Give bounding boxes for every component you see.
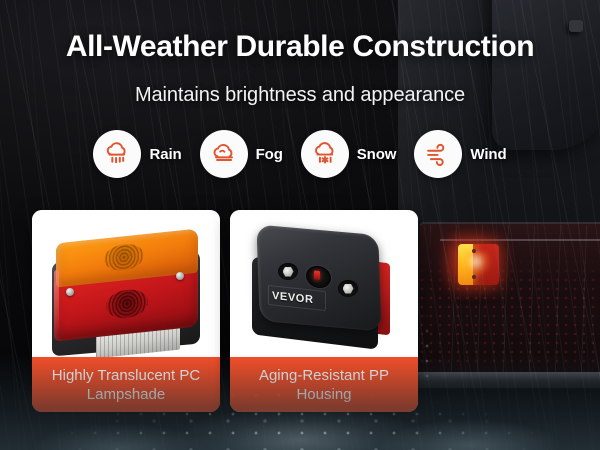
weather-badge-label: Wind — [470, 146, 506, 163]
tail-light-screw — [472, 275, 476, 279]
cloud-rain-icon — [93, 130, 141, 178]
pp-mount-screw — [278, 263, 298, 280]
weather-badge-wind: Wind — [414, 130, 506, 178]
product-image-lampshade — [32, 210, 220, 365]
weather-badge-label: Fog — [256, 146, 283, 163]
lamp-amber-reflector — [104, 242, 144, 272]
lamp-edge-highlight — [54, 270, 59, 331]
tail-light-illustration — [32, 210, 220, 365]
lamp-red-reflector — [106, 288, 148, 320]
wind-icon — [414, 130, 462, 178]
cloud-snow-icon — [301, 130, 349, 178]
tail-light-screw — [472, 249, 476, 253]
tail-light-illuminated — [458, 244, 499, 285]
lamp-screw — [176, 272, 184, 280]
pp-mount-screw — [338, 280, 358, 297]
pp-housing-illustration: VEVOR — [230, 210, 418, 365]
weather-badge-label: Snow — [357, 146, 397, 163]
water-droplets — [0, 354, 600, 450]
page-title: All-Weather Durable Construction — [0, 30, 600, 64]
product-image-pp-housing: VEVOR — [230, 210, 418, 365]
weather-badge-row: Rain Fog Snow — [0, 130, 600, 178]
weather-badge-fog: Fog — [200, 130, 283, 178]
lamp-screw — [66, 288, 74, 296]
promo-banner: All-Weather Durable Construction Maintai… — [0, 0, 600, 450]
tail-light-hotspot — [468, 252, 490, 276]
page-subtitle: Maintains brightness and appearance — [0, 84, 600, 107]
vehicle-window — [492, 0, 600, 150]
weather-badge-snow: Snow — [301, 130, 397, 178]
cloud-fog-icon — [200, 130, 248, 178]
weather-badge-label: Rain — [149, 146, 181, 163]
weather-badge-rain: Rain — [93, 130, 181, 178]
